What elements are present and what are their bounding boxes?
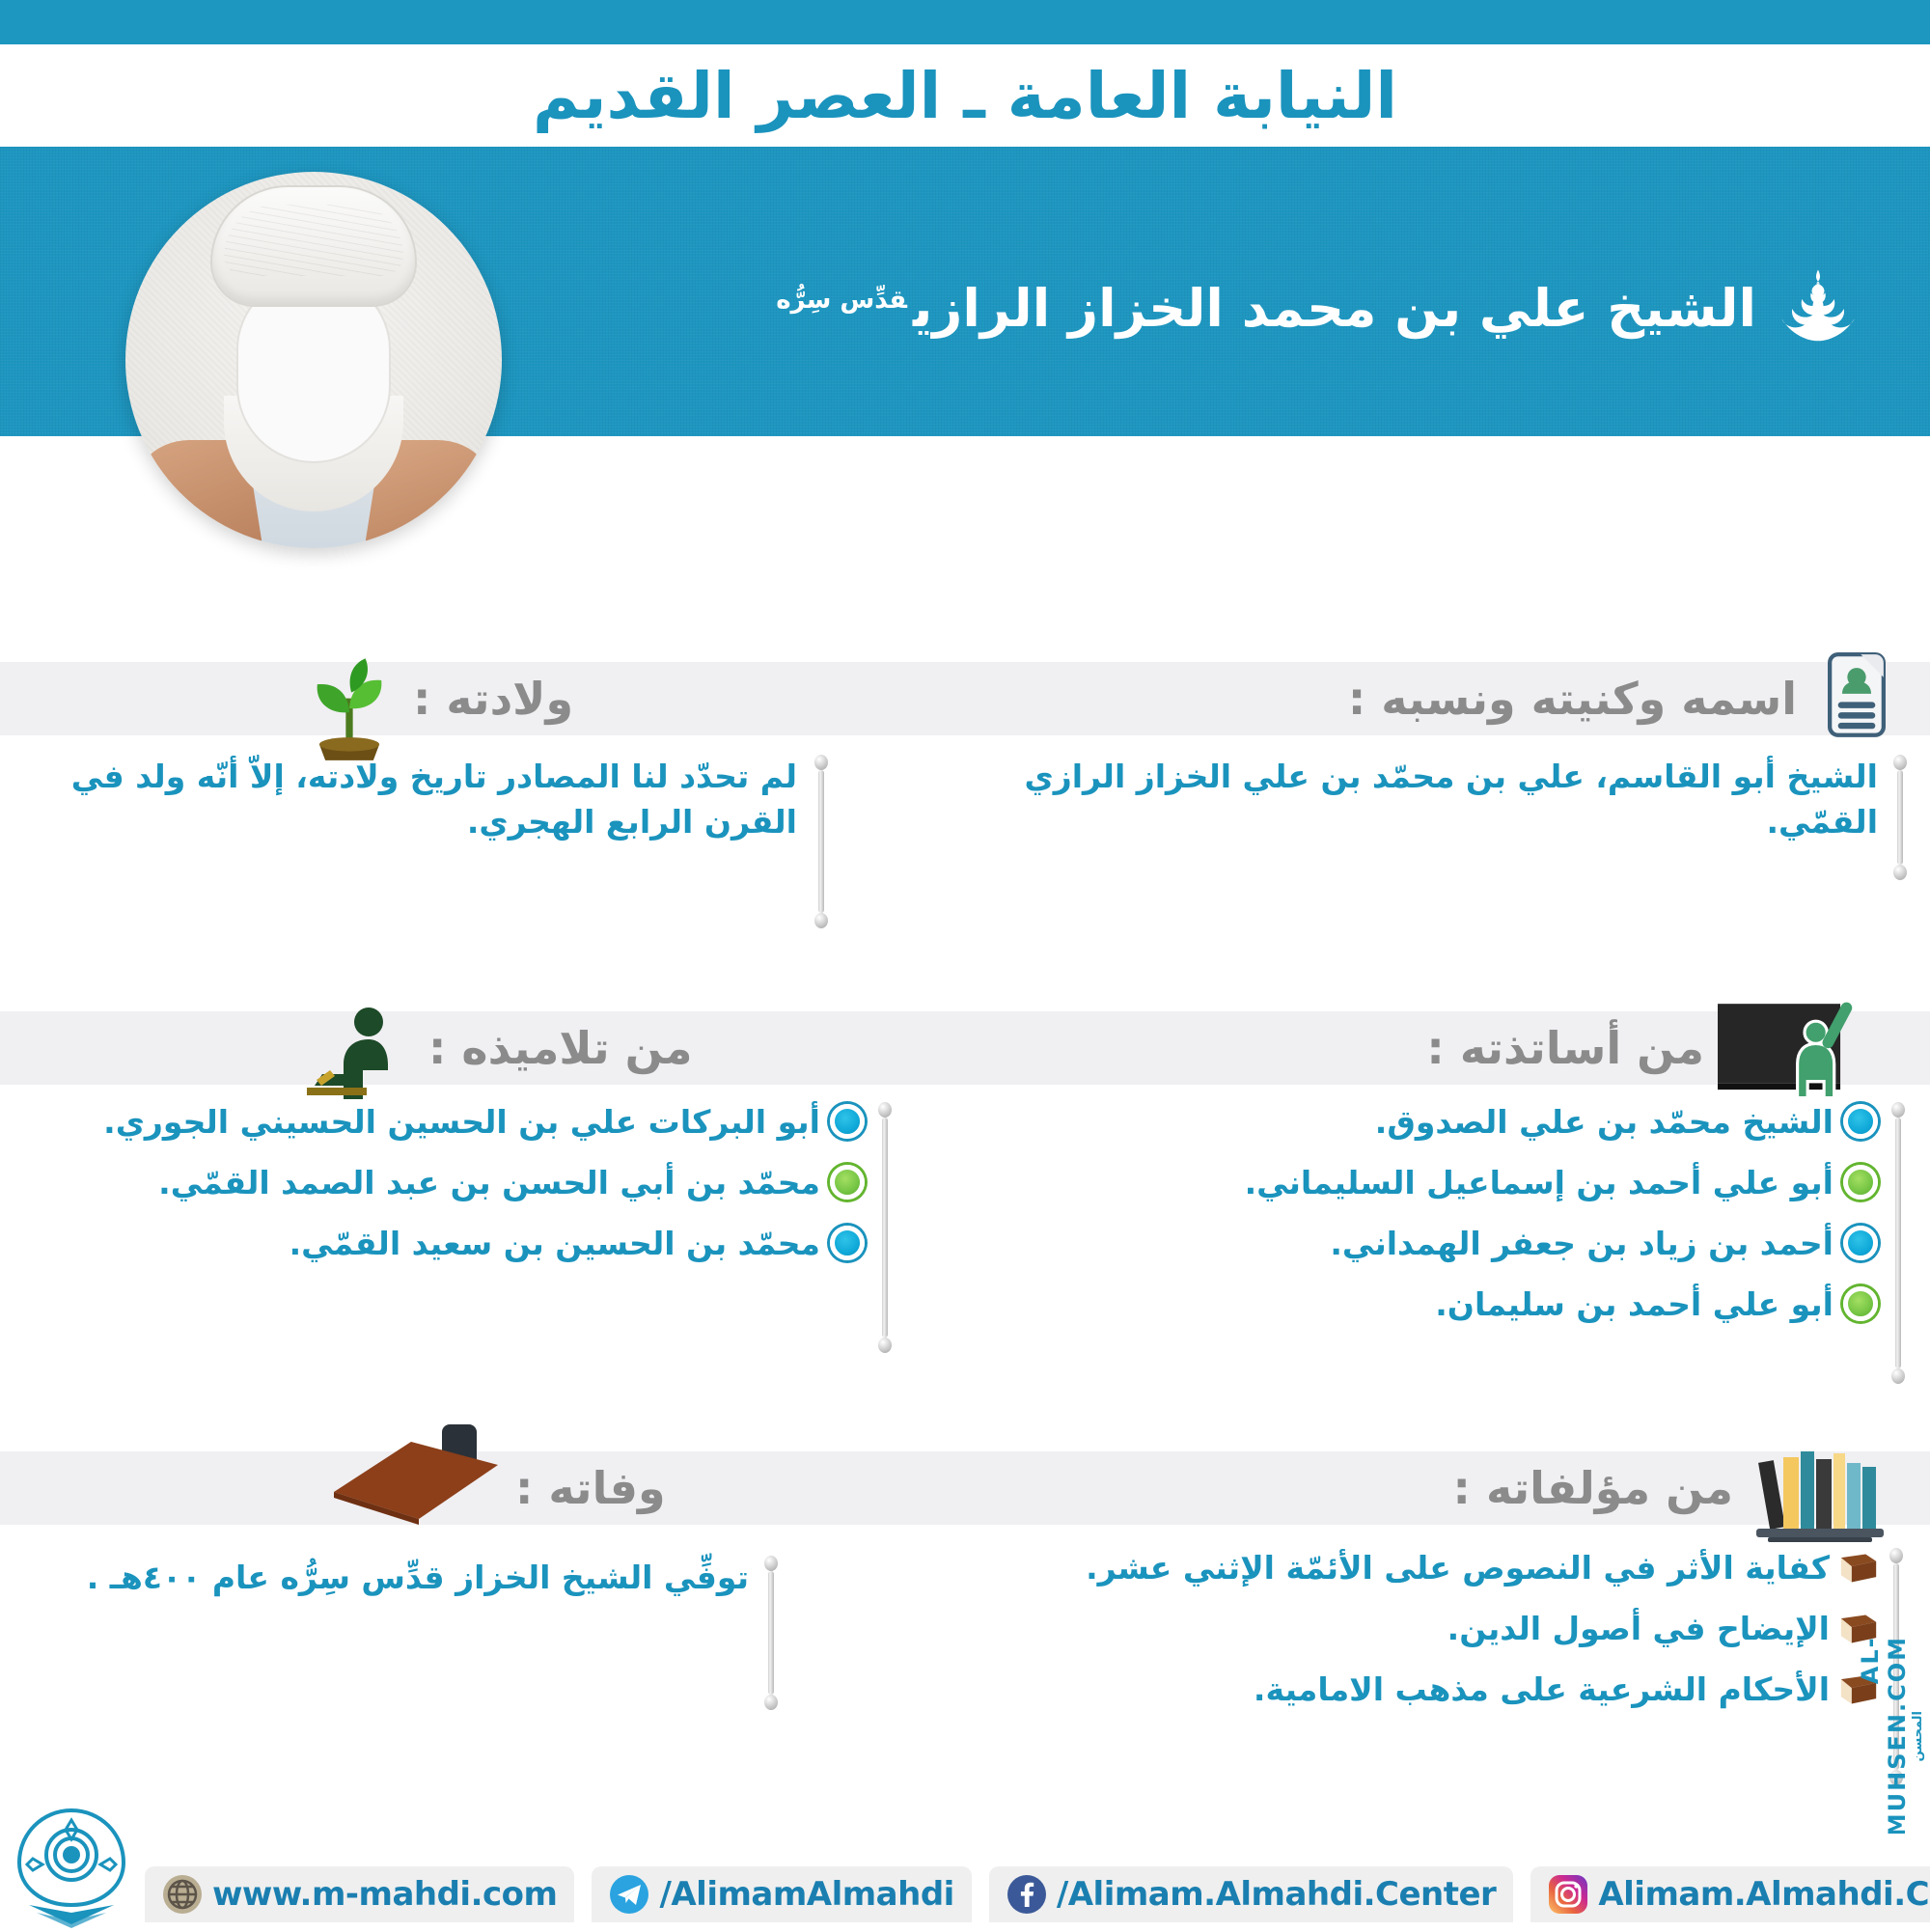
list-item: الأحكام الشرعية على مذهب الامامية. <box>1009 1670 1878 1711</box>
list-item: محمّد بن أبي الحسن بن عبد الصمد القمّي. <box>15 1163 865 1204</box>
work-title: الإيضاح في أصول الدين. <box>1447 1609 1830 1650</box>
social-links: www.m-mahdi.com /AlimamAlmahdi <box>145 1866 1930 1922</box>
section-header-name-lineage: اسمه وكنيته ونسبه : <box>1348 662 1891 735</box>
bullet-dot-icon <box>1843 1165 1878 1200</box>
section-body-birth: لم تحدّد لنا المصادر تاريخ ولادته، إلاّ … <box>15 755 797 845</box>
sheikh-honorific: قدِّس سِرُّه <box>776 286 907 315</box>
mahdi-center-logo <box>10 1805 133 1928</box>
teacher-name: أحمد بن زياد بن جعفر الهمداني. <box>1330 1224 1833 1265</box>
list-item: الإيضاح في أصول الدين. <box>1009 1609 1878 1650</box>
teacher-blackboard-icon <box>1718 1002 1891 1083</box>
grave-tombstone-icon <box>318 1422 502 1529</box>
rail-name-lineage <box>1893 755 1907 880</box>
bullet-dot-icon <box>830 1226 865 1260</box>
section-header-death: وفاته : <box>318 1451 666 1525</box>
sprout-plant-icon <box>318 652 400 733</box>
work-title: الأحكام الشرعية على مذهب الامامية. <box>1254 1670 1830 1711</box>
footer-link-telegram[interactable]: /AlimamAlmahdi <box>592 1866 971 1922</box>
sheikh-name-line: الشيخ علي بن محمد الخزاز الرازيقدِّس سِر… <box>776 261 1862 357</box>
student-name: أبو البركات علي بن الحسين الحسيني الجوري… <box>103 1102 820 1144</box>
rail-birth <box>814 755 828 928</box>
death-text: توفِّي الشيخ الخزاز قدِّس سِرُّه عام ٤٠٠… <box>15 1556 749 1601</box>
footer-link-facebook[interactable]: /Alimam.Almahdi.Center <box>989 1866 1514 1922</box>
student-name: محمّد بن أبي الحسن بن عبد الصمد القمّي. <box>158 1163 820 1204</box>
infographic-page: النيابة العامة ـ العصر القديم الشيخ علي … <box>0 0 1930 1930</box>
section-title-birth: ولادته : <box>413 676 573 721</box>
students-list: أبو البركات علي بن الحسين الحسيني الجوري… <box>15 1102 865 1265</box>
id-card-icon <box>1810 652 1891 733</box>
student-writing-icon <box>289 1002 415 1083</box>
section-body-death: توفِّي الشيخ الخزاز قدِّس سِرُّه عام ٤٠٠… <box>15 1556 749 1601</box>
list-item: أبو البركات علي بن الحسين الحسيني الجوري… <box>15 1102 865 1144</box>
footer-link-label: /Alimam.Almahdi.Center <box>1057 1875 1497 1914</box>
teachers-list: الشيخ محمّد بن علي الصدوق. أبو علي أحمد … <box>1029 1102 1878 1326</box>
students-list-wrap: أبو البركات علي بن الحسين الحسيني الجوري… <box>15 1102 865 1284</box>
rail-students <box>878 1102 892 1353</box>
bullet-dot-icon <box>1843 1226 1878 1260</box>
scholar-portrait <box>125 172 502 548</box>
list-item: أبو علي أحمد بن إسماعيل السليماني. <box>1029 1163 1878 1204</box>
footer-link-website[interactable]: www.m-mahdi.com <box>145 1866 574 1922</box>
list-item: أبو علي أحمد بن سليمان. <box>1029 1284 1878 1326</box>
bookshelf-icon <box>1747 1442 1891 1523</box>
section-title-name-lineage: اسمه وكنيته ونسبه : <box>1348 676 1797 721</box>
name-lineage-text: الشيخ أبو القاسم، علي بن محمّد بن علي ال… <box>1009 755 1878 845</box>
section-title-students: من تلاميذه : <box>428 1026 692 1070</box>
telegram-icon <box>609 1874 649 1915</box>
section-header-students: من تلاميذه : <box>289 1011 692 1085</box>
list-item: أحمد بن زياد بن جعفر الهمداني. <box>1029 1224 1878 1265</box>
list-item: الشيخ محمّد بن علي الصدوق. <box>1029 1102 1878 1144</box>
watermark-text: AL-MUHSEN.COM <box>1857 1636 1911 1836</box>
facebook-icon <box>1006 1874 1047 1915</box>
teacher-name: أبو علي أحمد بن إسماعيل السليماني. <box>1245 1163 1833 1204</box>
page-title-wrap: النيابة العامة ـ العصر القديم <box>0 44 1930 147</box>
footer-link-label: www.m-mahdi.com <box>212 1875 557 1914</box>
section-body-name-lineage: الشيخ أبو القاسم، علي بن محمّد بن علي ال… <box>1009 755 1878 845</box>
book-icon <box>1839 1552 1878 1585</box>
instagram-icon <box>1548 1874 1588 1915</box>
globe-icon <box>162 1874 203 1915</box>
list-item: كفاية الأثر في النصوص على الأئمّة الإثني… <box>1009 1548 1878 1589</box>
works-list-wrap: كفاية الأثر في النصوص على الأئمّة الإثني… <box>1009 1548 1878 1730</box>
footer-link-label: /AlimamAlmahdi <box>659 1875 953 1914</box>
section-title-teachers: من أساتذته : <box>1426 1026 1704 1070</box>
teacher-name: الشيخ محمّد بن علي الصدوق. <box>1375 1102 1833 1144</box>
section-header-teachers: من أساتذته : <box>1426 1011 1891 1085</box>
footer-link-instagram[interactable]: Alimam.Almahdi.Center <box>1530 1866 1930 1922</box>
bullet-dot-icon <box>1843 1286 1878 1321</box>
watermark-sub: المحسن <box>1911 1711 1925 1761</box>
section-header-works: من مؤلفاته : <box>1453 1451 1891 1525</box>
teachers-list-wrap: الشيخ محمّد بن علي الصدوق. أبو علي أحمد … <box>1029 1102 1878 1345</box>
section-title-works: من مؤلفاته : <box>1453 1466 1733 1510</box>
birth-text: لم تحدّد لنا المصادر تاريخ ولادته، إلاّ … <box>15 755 797 845</box>
list-item: محمّد بن الحسين بن سعيد القمّي. <box>15 1224 865 1265</box>
section-header-birth: ولادته : <box>318 662 573 735</box>
rail-death <box>764 1556 778 1710</box>
site-watermark: المحسن AL-MUHSEN.COM <box>1864 1654 1916 1818</box>
bullet-dot-icon <box>1843 1104 1878 1139</box>
work-title: كفاية الأثر في النصوص على الأئمّة الإثني… <box>1086 1548 1830 1589</box>
sheikh-name: الشيخ علي بن محمد الخزاز الرازيقدِّس سِر… <box>776 283 1756 335</box>
bullet-dot-icon <box>830 1104 865 1139</box>
rail-teachers <box>1891 1102 1905 1384</box>
bullet-dot-icon <box>830 1165 865 1200</box>
student-name: محمّد بن الحسين بن سعيد القمّي. <box>289 1224 820 1265</box>
page-title: النيابة العامة ـ العصر القديم <box>533 59 1397 133</box>
footer-link-label: Alimam.Almahdi.Center <box>1598 1875 1930 1914</box>
section-title-death: وفاته : <box>515 1466 666 1510</box>
floral-ornament-icon <box>1774 264 1862 353</box>
works-list: كفاية الأثر في النصوص على الأئمّة الإثني… <box>1009 1548 1878 1711</box>
footer: www.m-mahdi.com /AlimamAlmahdi <box>0 1834 1930 1930</box>
teacher-name: أبو علي أحمد بن سليمان. <box>1435 1284 1833 1326</box>
portrait-turban <box>210 185 417 307</box>
top-teal-edge <box>0 0 1930 44</box>
sheikh-name-text: الشيخ علي بن محمد الخزاز الرازي <box>913 278 1756 339</box>
